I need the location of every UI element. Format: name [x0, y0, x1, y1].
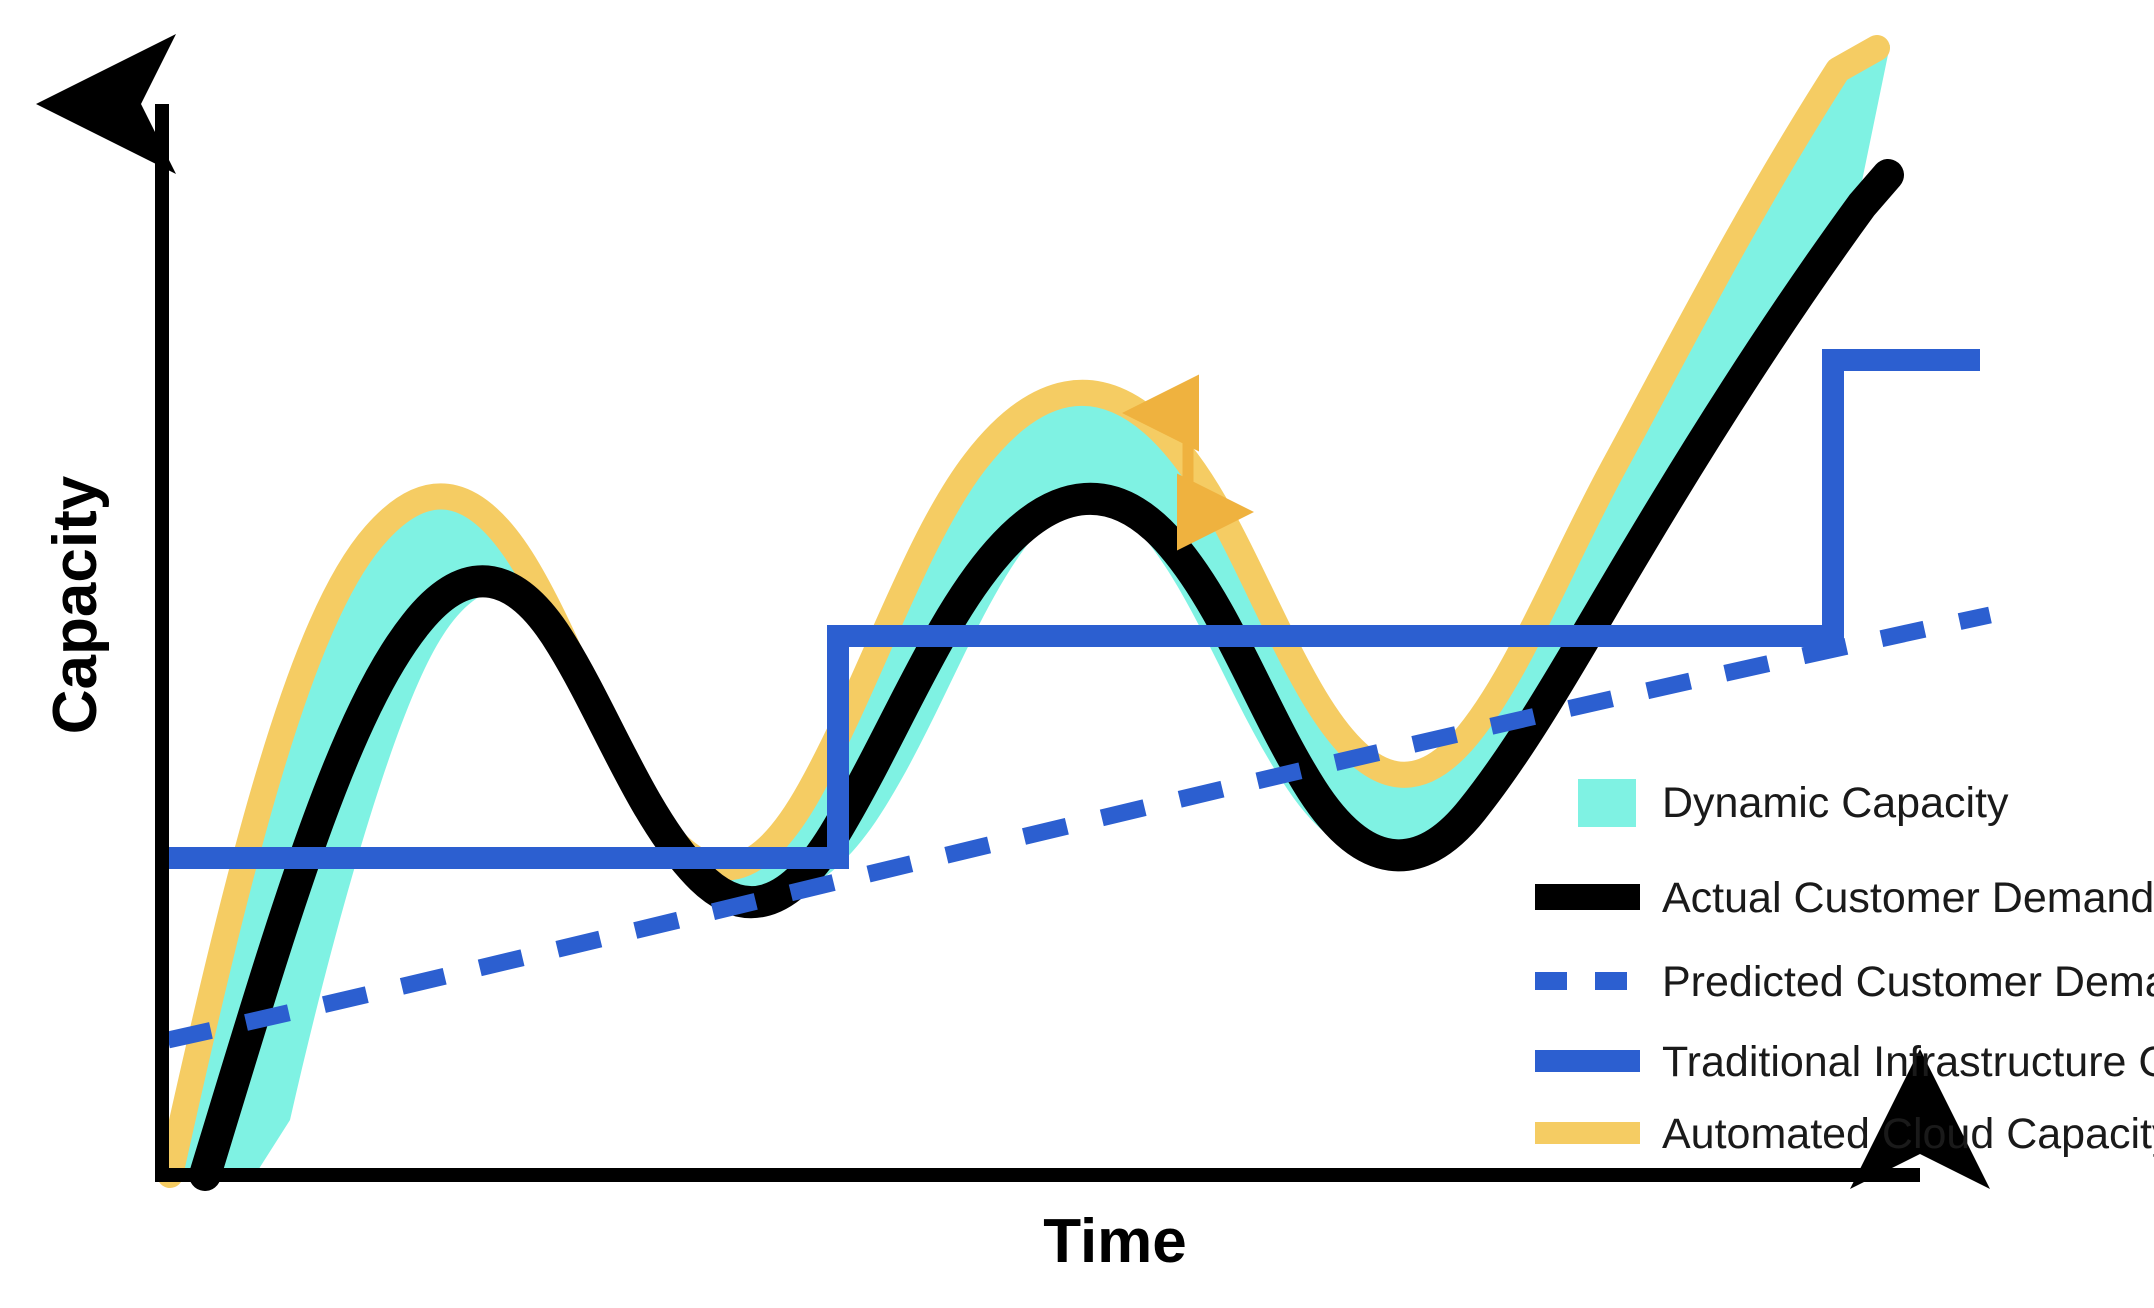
legend-label: Dynamic Capacity	[1662, 779, 2009, 827]
legend-item-automated-cloud-capacity[interactable]: Automated Cloud Capacity	[1535, 1110, 2154, 1158]
legend-label: Actual Customer Demand	[1662, 874, 2154, 922]
capacity-vs-time-chart: Capacity Time Dynamic Capacity Actual Cu…	[0, 0, 2154, 1308]
legend-label: Traditional Infrastructure Capacity	[1662, 1038, 2154, 1086]
y-axis-title: Capacity	[41, 475, 110, 734]
actual-customer-demand-curve	[205, 175, 1888, 1175]
legend-swatch-icon	[1578, 779, 1636, 827]
x-axis-title: Time	[1043, 1207, 1187, 1276]
legend-label: Automated Cloud Capacity	[1662, 1110, 2154, 1158]
legend-item-actual-customer-demand[interactable]: Actual Customer Demand	[1535, 874, 2154, 922]
legend-label: Predicted Customer Demand	[1662, 958, 2154, 1006]
legend-item-predicted-customer-demand[interactable]: Predicted Customer Demand	[1535, 958, 2154, 1006]
legend: Dynamic Capacity Actual Customer Demand …	[1535, 779, 2154, 1158]
chart-canvas: Capacity Time Dynamic Capacity Actual Cu…	[0, 0, 2154, 1308]
legend-item-traditional-infrastructure-capacity[interactable]: Traditional Infrastructure Capacity	[1535, 1038, 2154, 1086]
legend-item-dynamic-capacity[interactable]: Dynamic Capacity	[1578, 779, 2009, 827]
